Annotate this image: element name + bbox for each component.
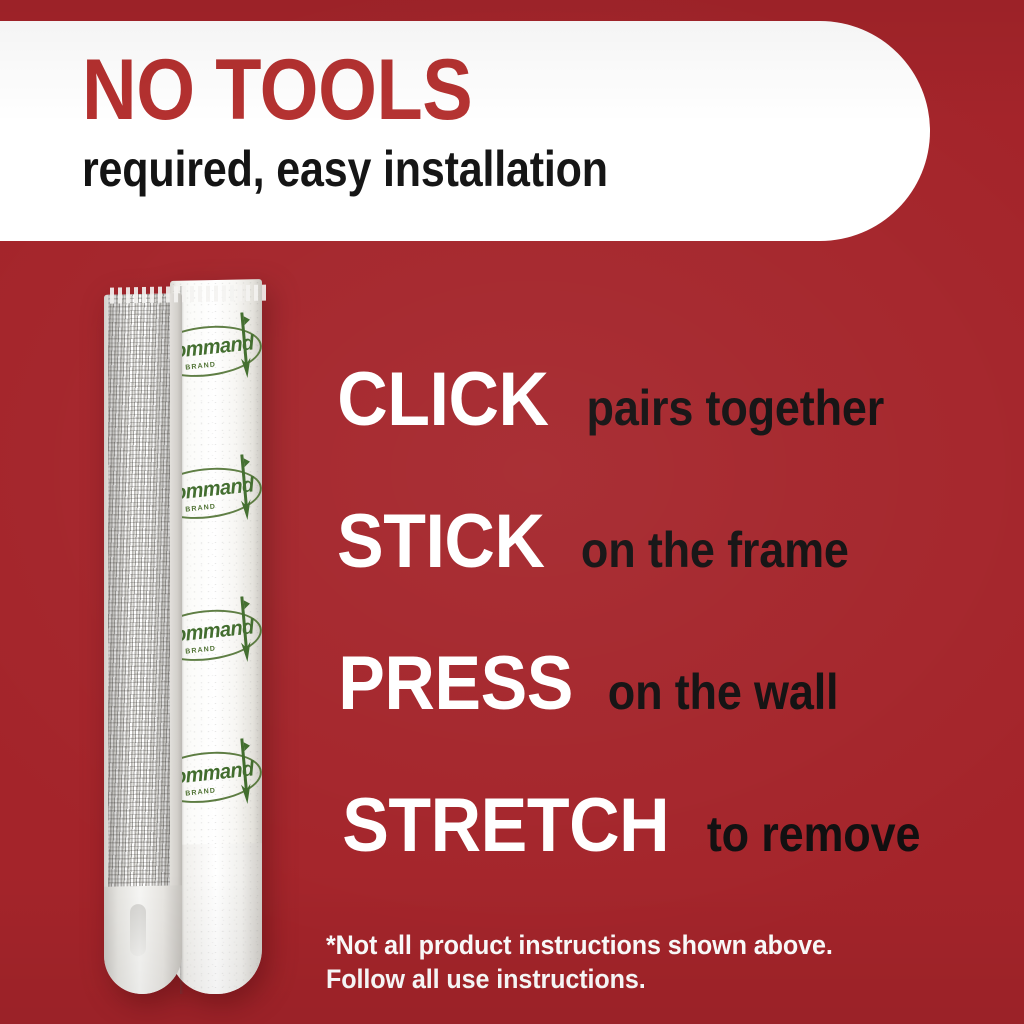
- step-description: pairs together: [586, 383, 884, 433]
- step-description: to remove: [707, 809, 920, 859]
- step-description: on the wall: [608, 667, 839, 717]
- disclaimer-text: *Not all product instructions shown abov…: [326, 928, 833, 996]
- step-description: on the frame: [580, 525, 848, 575]
- instruction-step: PRESS on the wall: [328, 646, 968, 788]
- instruction-step: CLICK pairs together: [328, 362, 968, 504]
- page-headline: NO TOOLS: [82, 51, 698, 130]
- adhesive-strip-front: [104, 293, 182, 994]
- instruction-steps-list: CLICK pairs together STICK on the frame …: [328, 362, 968, 930]
- disclaimer-line-2: Follow all use instructions.: [326, 962, 833, 996]
- fastener-shading: [108, 293, 170, 934]
- instruction-step: STICK on the frame: [328, 504, 968, 646]
- step-keyword: STRETCH: [342, 788, 669, 864]
- disclaimer-line-1: *Not all product instructions shown abov…: [326, 928, 833, 962]
- step-keyword: STICK: [337, 504, 544, 580]
- step-keyword: CLICK: [337, 362, 548, 438]
- header-banner: NO TOOLS required, easy installation: [0, 21, 930, 241]
- strip-serrated-top-edge: [110, 285, 266, 304]
- step-keyword: PRESS: [338, 646, 573, 722]
- strip-front-pull-tab: [104, 885, 182, 994]
- product-feature-poster: NO TOOLS required, easy installation Com…: [0, 0, 1024, 1024]
- page-subheadline: required, easy installation: [82, 144, 684, 194]
- header-banner-text: NO TOOLS required, easy installation: [82, 51, 782, 194]
- instruction-step: STRETCH to remove: [328, 788, 968, 930]
- command-strip-product-image: CommandBRANDCommandBRANDCommandBRANDComm…: [96, 268, 296, 1016]
- strip-front-base: [104, 293, 182, 994]
